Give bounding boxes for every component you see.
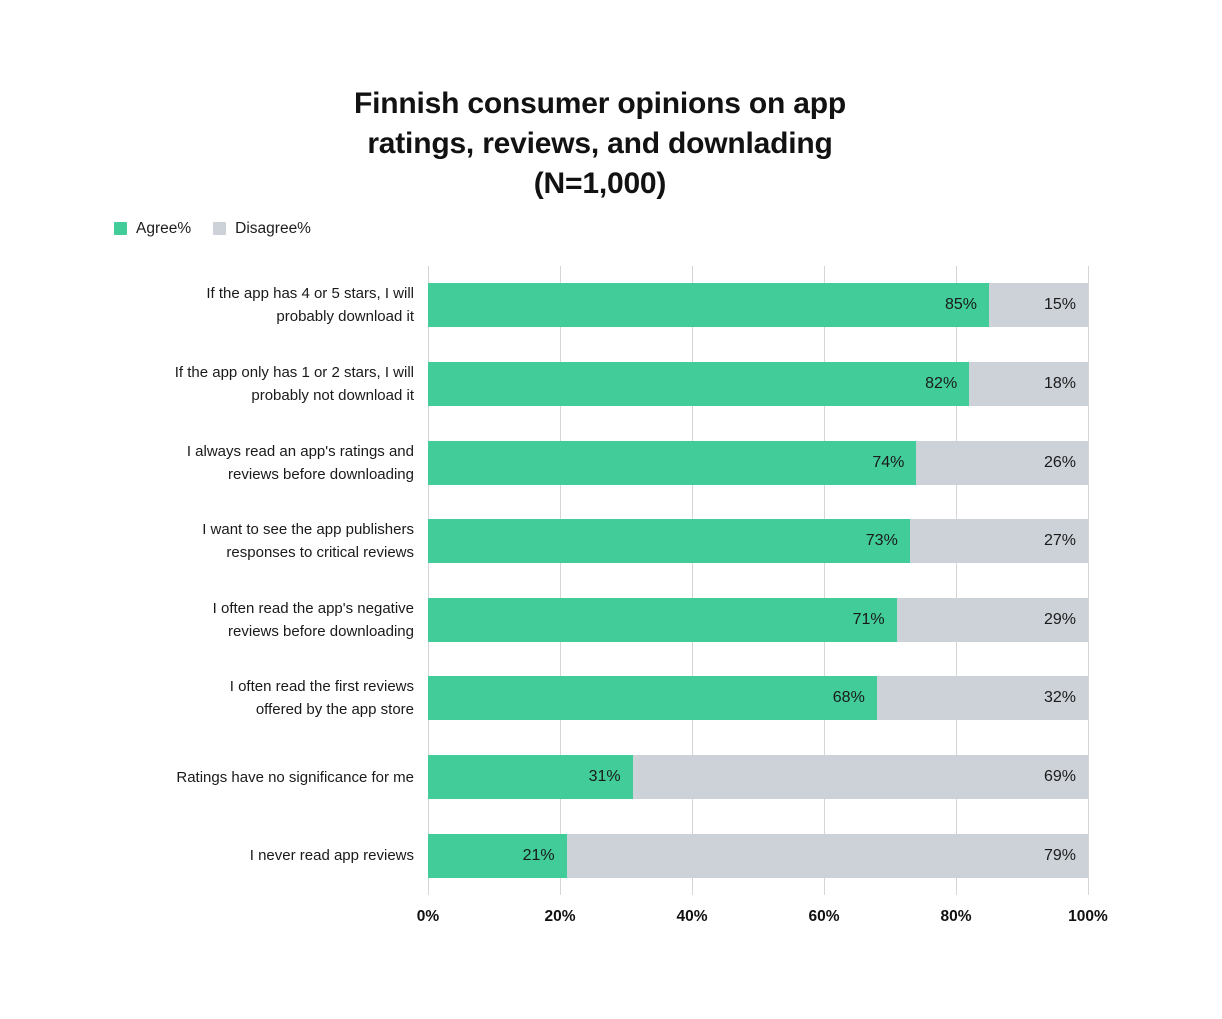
chart-title: Finnish consumer opinions on app ratings… [240,84,960,204]
x-axis-tick-label: 100% [1068,908,1108,926]
chart-legend: Agree% Disagree% [114,221,311,237]
category-label: Ratings have no significance for me [60,755,414,799]
bar-segment-agree[interactable]: 82% [428,362,969,406]
bar-row: 74%26% [428,441,1088,485]
x-axis-tick-label: 20% [544,908,575,926]
bar-segment-disagree[interactable]: 15% [989,283,1088,327]
legend-item-agree[interactable]: Agree% [114,221,191,237]
bar-segment-disagree[interactable]: 18% [969,362,1088,406]
bar-row: 68%32% [428,676,1088,720]
bar-segment-agree[interactable]: 68% [428,676,877,720]
legend-label-disagree: Disagree% [235,221,311,237]
bar-segment-agree[interactable]: 71% [428,598,897,642]
legend-swatch-disagree [213,222,226,235]
category-label: I always read an app's ratings and revie… [60,441,414,485]
bar-segment-agree[interactable]: 73% [428,519,910,563]
legend-swatch-agree [114,222,127,235]
bar-rows: 85%15%82%18%74%26%73%27%71%29%68%32%31%6… [428,266,1088,895]
bar-row: 71%29% [428,598,1088,642]
category-label: I never read app reviews [60,834,414,878]
bar-row: 82%18% [428,362,1088,406]
x-axis-tick-label: 60% [808,908,839,926]
bar-row: 85%15% [428,283,1088,327]
bar-row: 21%79% [428,834,1088,878]
x-axis-tick-label: 0% [417,908,439,926]
category-label: I want to see the app publishers respons… [60,519,414,563]
bar-segment-disagree[interactable]: 79% [567,834,1088,878]
bar-segment-disagree[interactable]: 32% [877,676,1088,720]
bar-segment-disagree[interactable]: 26% [916,441,1088,485]
x-axis-tick-label: 40% [676,908,707,926]
bar-segment-disagree[interactable]: 29% [897,598,1088,642]
bar-segment-agree[interactable]: 21% [428,834,567,878]
category-label: If the app has 4 or 5 stars, I will prob… [60,283,414,327]
legend-item-disagree[interactable]: Disagree% [213,221,311,237]
gridline-100pct [1088,266,1089,895]
bar-segment-disagree[interactable]: 69% [633,755,1088,799]
bar-segment-agree[interactable]: 85% [428,283,989,327]
plot-area: 85%15%82%18%74%26%73%27%71%29%68%32%31%6… [428,266,1088,895]
x-axis-tick-label: 80% [940,908,971,926]
bar-segment-disagree[interactable]: 27% [910,519,1088,563]
category-label: I often read the app's negative reviews … [60,598,414,642]
bar-segment-agree[interactable]: 31% [428,755,633,799]
chart-container: Finnish consumer opinions on app ratings… [0,0,1222,1019]
category-label: I often read the first reviews offered b… [60,676,414,720]
x-axis: 0%20%40%60%80%100% [428,896,1088,936]
bar-row: 73%27% [428,519,1088,563]
category-label: If the app only has 1 or 2 stars, I will… [60,362,414,406]
bar-row: 31%69% [428,755,1088,799]
bar-segment-agree[interactable]: 74% [428,441,916,485]
legend-label-agree: Agree% [136,221,191,237]
y-axis-category-labels: If the app has 4 or 5 stars, I will prob… [60,266,414,895]
